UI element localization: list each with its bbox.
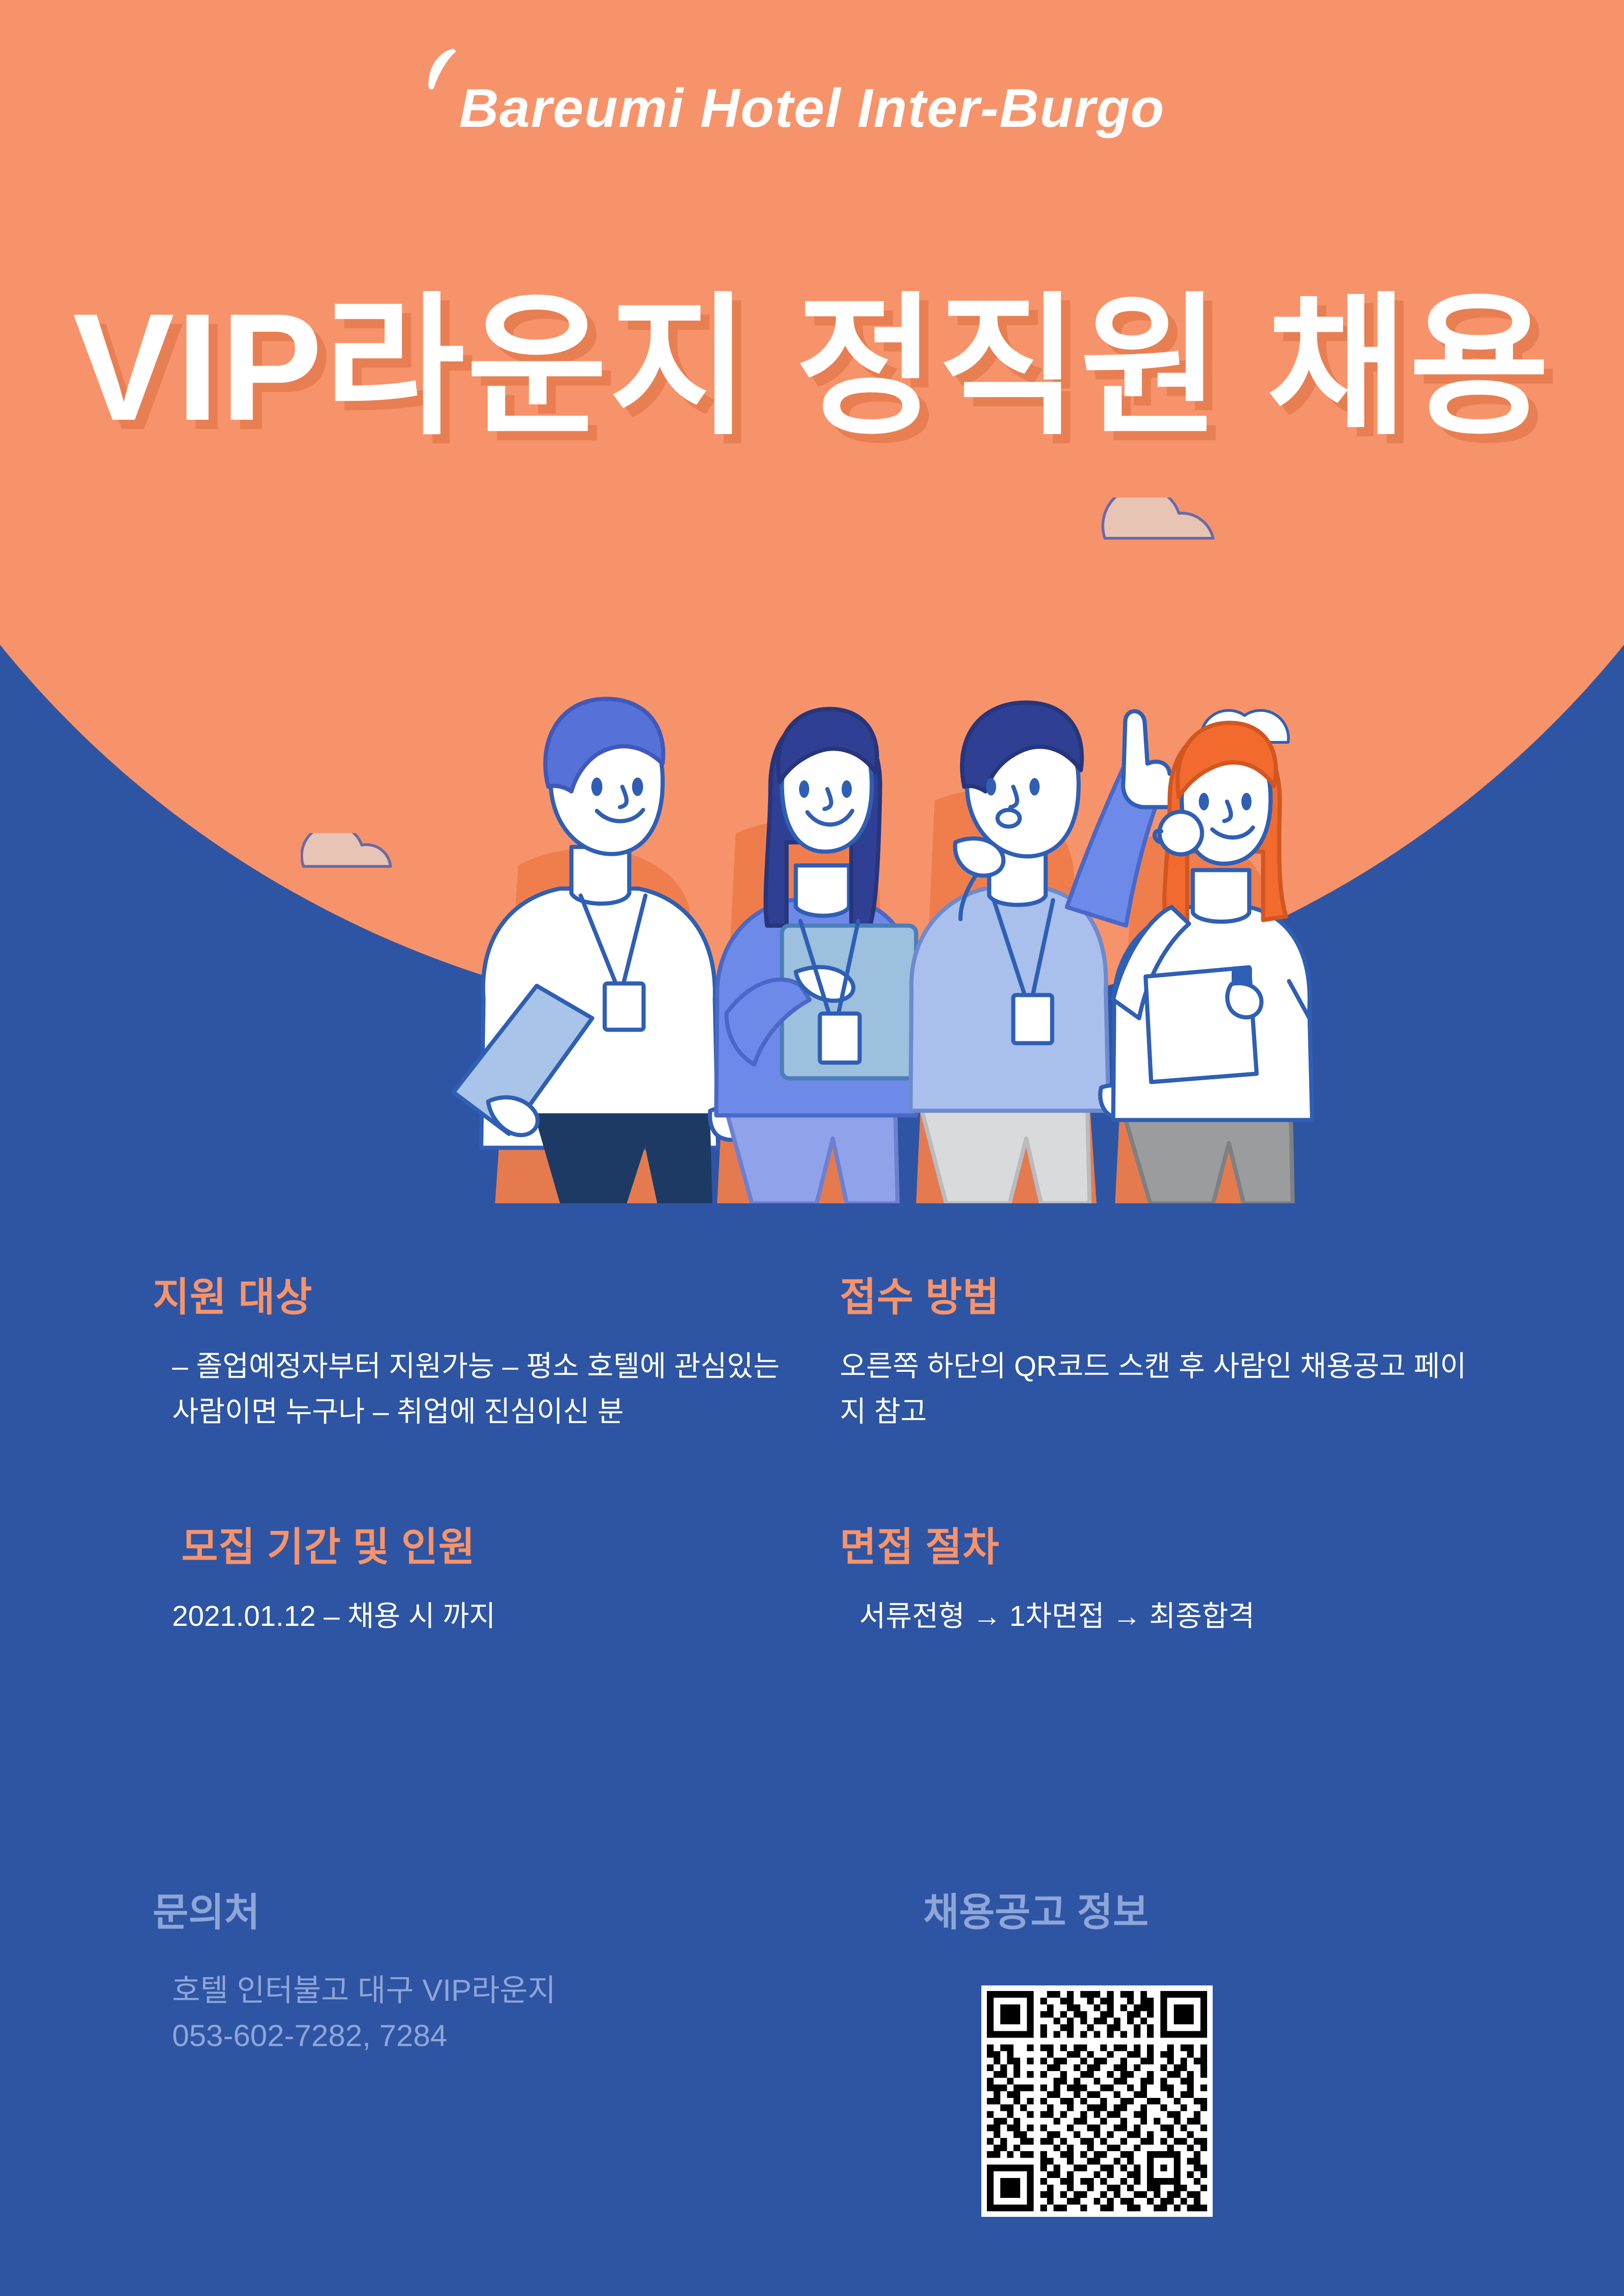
section-process-heading: 면접 절차 [840,1527,1471,1567]
poster-footer: 문의처 호텔 인터불고 대구 VIP라운지 053-602-7282, 7284… [0,1893,1624,2058]
page-title: VIP라운지 정직원 채용 [0,287,1624,448]
cloud-beige-right-icon [1101,498,1217,544]
qr-code-icon[interactable] [981,1985,1213,2217]
section-period-body: 2021.01.12 – 채용 시 까지 [172,1594,812,1639]
info-sections: 지원 대상 – 졸업예정자부터 지원가능 – 평소 호텔에 관심있는 사람이면 … [0,1277,1624,1639]
brand-logo: Bareumi Hotel Inter-Burgo [0,81,1624,136]
posting-heading: 채용공고 정보 [924,1893,1472,1932]
contact-place: 호텔 인터불고 대구 VIP라운지 [172,1968,852,2013]
section-eligibility-body: – 졸업예정자부터 지원가능 – 평소 호텔에 관심있는 사람이면 누구나 – … [172,1344,812,1435]
contact-heading: 문의처 [153,1893,852,1932]
poster-title-wrap: VIP라운지 정직원 채용 [0,287,1624,448]
section-how-to-apply: 접수 방법 오른쪽 하단의 QR코드 스캔 후 사람인 채용공고 페이지 참고 [812,1277,1471,1435]
section-eligibility: 지원 대상 – 졸업예정자부터 지원가능 – 평소 호텔에 관심있는 사람이면 … [153,1277,812,1435]
section-how-to-apply-body: 오른쪽 하단의 QR코드 스캔 후 사람인 채용공고 페이지 참고 [840,1344,1471,1435]
section-process: 면접 절차 서류전형 → 1차면접 → 최종합격 [812,1527,1471,1639]
brand-logo-text: Bareumi Hotel Inter-Burgo [459,81,1165,136]
qr-code-matrix [987,1991,1207,2211]
four-business-people-illustration [319,648,1337,1203]
footer-contact: 문의처 호텔 인터불고 대구 VIP라운지 053-602-7282, 7284 [153,1893,852,2058]
section-process-body: 서류전형 → 1차면접 → 최종합격 [859,1594,1471,1639]
info-row-2: 모집 기간 및 인원 2021.01.12 – 채용 시 까지 면접 절차 서류… [153,1527,1471,1639]
section-eligibility-heading: 지원 대상 [153,1277,812,1317]
section-period-heading: 모집 기간 및 인원 [181,1527,812,1567]
info-row-1: 지원 대상 – 졸업예정자부터 지원가능 – 평소 호텔에 관심있는 사람이면 … [153,1277,1471,1435]
contact-phone: 053-602-7282, 7284 [172,2013,852,2059]
footer-posting: 채용공고 정보 [852,1893,1472,2058]
section-how-to-apply-heading: 접수 방법 [840,1277,1471,1317]
section-period: 모집 기간 및 인원 2021.01.12 – 채용 시 까지 [153,1527,812,1639]
poster-root: Bareumi Hotel Inter-Burgo VIP라운지 정직원 채용 [0,0,1624,2296]
feather-icon [426,47,458,91]
